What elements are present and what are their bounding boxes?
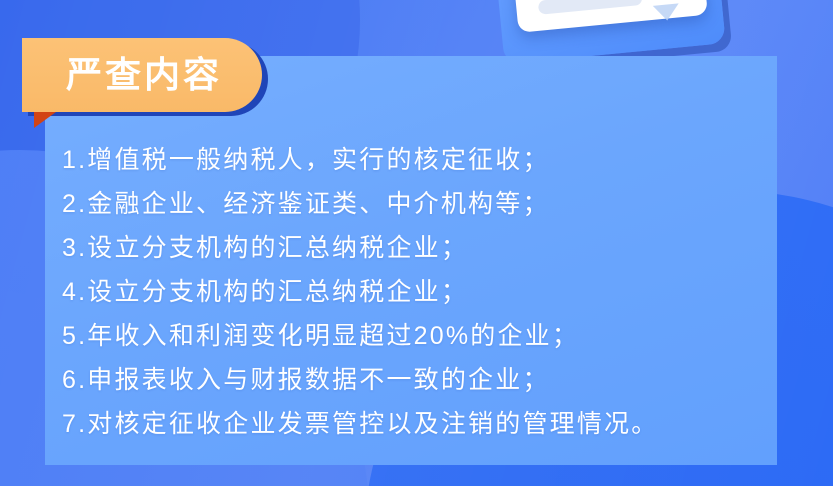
list-item: 6.申报表收入与财报数据不一致的企业；	[62, 358, 762, 402]
inspection-list: 1.增值税一般纳税人，实行的核定征收； 2.金融企业、经济鉴证类、中介机构等； …	[62, 138, 762, 446]
list-item: 2.金融企业、经济鉴证类、中介机构等；	[62, 182, 762, 226]
title-badge-tail	[34, 112, 56, 128]
list-item: 7.对核定征收企业发票管控以及注销的管理情况。	[62, 402, 762, 446]
page-title: 严查内容	[62, 57, 222, 93]
document-illustration	[490, 0, 725, 64]
document-text-line	[538, 0, 643, 15]
title-badge: 严查内容	[22, 38, 262, 112]
poster-canvas: 严查内容 1.增值税一般纳税人，实行的核定征收； 2.金融企业、经济鉴证类、中介…	[0, 0, 833, 486]
list-item: 4.设立分支机构的汇总纳税企业；	[62, 270, 762, 314]
list-item: 5.年收入和利润变化明显超过20%的企业；	[62, 314, 762, 358]
document-notch-icon	[653, 3, 680, 21]
list-item: 1.增值税一般纳税人，实行的核定征收；	[62, 138, 762, 182]
list-item: 3.设立分支机构的汇总纳税企业；	[62, 226, 762, 270]
